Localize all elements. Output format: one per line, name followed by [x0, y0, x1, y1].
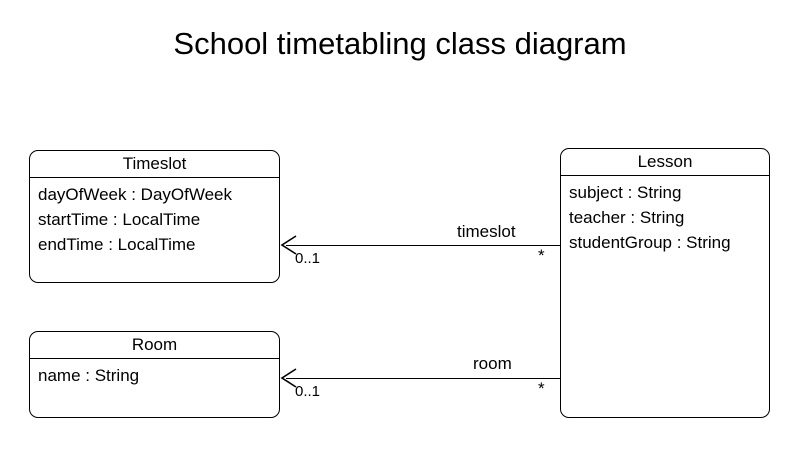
class-box-room[interactable]: Room name : String [29, 331, 280, 418]
multiplicity-room-source: * [538, 379, 545, 399]
class-attribute: startTime : LocalTime [38, 207, 279, 232]
class-name-lesson: Lesson [561, 149, 769, 176]
class-box-timeslot[interactable]: Timeslot dayOfWeek : DayOfWeek startTime… [29, 150, 280, 283]
class-attribute: name : String [38, 363, 279, 388]
class-attribute: dayOfWeek : DayOfWeek [38, 182, 279, 207]
class-attribute: studentGroup : String [569, 230, 769, 255]
association-line-timeslot [286, 245, 560, 246]
class-attribute: endTime : LocalTime [38, 232, 279, 257]
class-attribute: teacher : String [569, 205, 769, 230]
multiplicity-timeslot-target: 0..1 [295, 250, 320, 267]
association-line-room [286, 378, 560, 379]
page-title: School timetabling class diagram [0, 26, 800, 62]
attribute-list-lesson: subject : String teacher : String studen… [561, 176, 769, 255]
attribute-list-room: name : String [30, 359, 279, 388]
multiplicity-timeslot-source: * [538, 246, 545, 266]
class-name-timeslot: Timeslot [30, 151, 279, 178]
attribute-list-timeslot: dayOfWeek : DayOfWeek startTime : LocalT… [30, 178, 279, 257]
class-attribute: subject : String [569, 180, 769, 205]
multiplicity-room-target: 0..1 [295, 383, 320, 400]
association-label-room: room [473, 354, 512, 374]
class-box-lesson[interactable]: Lesson subject : String teacher : String… [560, 148, 770, 418]
association-label-timeslot: timeslot [457, 222, 516, 242]
diagram-canvas: School timetabling class diagram timeslo… [0, 0, 800, 450]
class-name-room: Room [30, 332, 279, 359]
